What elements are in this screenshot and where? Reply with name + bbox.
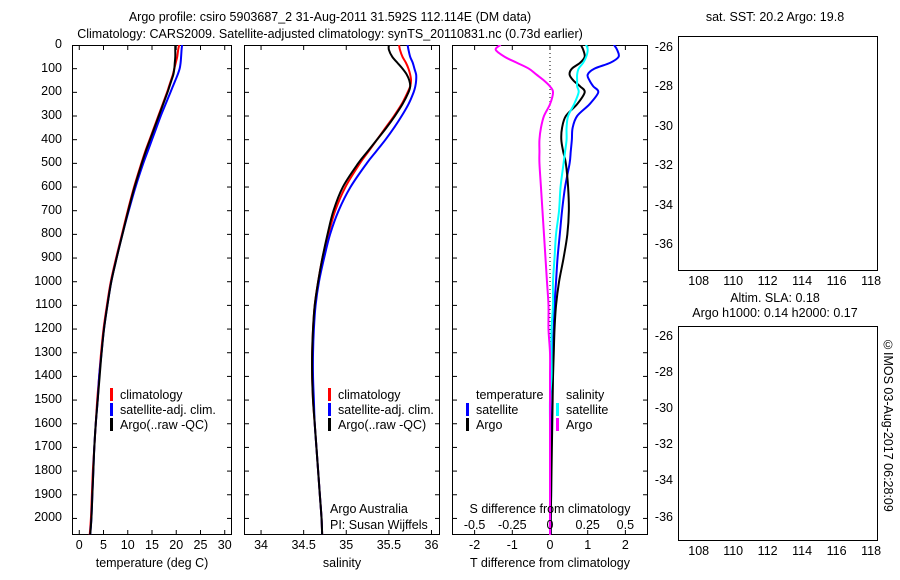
temperature-axis-ticks: 051015202530: [72, 538, 232, 554]
legend-label: Argo(..raw -QC): [120, 418, 208, 432]
map-lon-tick-label: 114: [792, 544, 812, 558]
sla-map-title-line1: Altim. SLA: 0.18: [660, 291, 890, 305]
legend-swatch-icon: [110, 388, 113, 401]
sst-map-lat-labels: -26-28-30-32-34-36: [650, 36, 675, 271]
t-difference-axis-ticks: -2-1012: [452, 538, 648, 554]
figure-title-line1: Argo profile: csiro 5903687_2 31-Aug-201…: [0, 10, 660, 24]
legend-item: Argo(..raw -QC): [328, 418, 434, 433]
s-difference-axis-label: S difference from climatology: [452, 502, 648, 516]
map-lat-tick-label: -28: [655, 365, 673, 379]
depth-tick-label: 1000: [34, 274, 62, 288]
legend-column: temperaturesatelliteArgo: [466, 388, 556, 433]
temperature-tick-label: 10: [121, 538, 135, 552]
depth-tick-label: 1600: [34, 416, 62, 430]
map-lat-tick-label: -26: [655, 40, 673, 54]
map-lon-tick-label: 116: [827, 544, 847, 558]
temperature-tick-label: 30: [218, 538, 232, 552]
legend-label: satellite-adj. clim.: [120, 403, 216, 417]
map-lon-tick-label: 118: [861, 274, 881, 288]
salinity-axis-ticks: 3434.53535.536: [244, 538, 440, 554]
panel-difference: [452, 45, 648, 535]
salinity-profile-plot: [244, 45, 440, 535]
legend-label: climatology: [338, 388, 401, 402]
depth-tick-label: 400: [41, 132, 62, 146]
depth-tick-label: 1100: [35, 297, 62, 311]
legend-column-title: salinity: [566, 388, 646, 403]
legend-swatch-icon: [328, 403, 331, 416]
difference-profile-plot: [452, 45, 648, 535]
s-diff-tick-label: -0.25: [498, 518, 527, 532]
depth-tick-label: 900: [41, 250, 62, 264]
temperature-tick-label: 20: [169, 538, 183, 552]
temperature-axis-label: temperature (deg C): [52, 556, 252, 570]
map-lat-tick-label: -30: [655, 119, 673, 133]
temperature-profile-plot: [72, 45, 232, 535]
depth-tick-label: 1800: [34, 463, 62, 477]
depth-tick-label: 200: [41, 84, 62, 98]
salinity-tick-label: 34.5: [291, 538, 315, 552]
legend-swatch-icon: [556, 403, 559, 416]
legend-item: satellite-adj. clim.: [328, 403, 434, 418]
legend-label: Argo(..raw -QC): [338, 418, 426, 432]
depth-tick-label: 1300: [34, 345, 62, 359]
map-lat-tick-label: -34: [655, 473, 673, 487]
depth-tick-label: 1400: [34, 368, 62, 382]
salinity-legend: climatologysatellite-adj. clim.Argo(..ra…: [328, 388, 434, 433]
map-lon-tick-label: 114: [792, 274, 812, 288]
legend-swatch-icon: [556, 418, 559, 431]
map-sst[interactable]: [678, 36, 878, 271]
depth-tick-label: 500: [41, 155, 62, 169]
s-difference-axis-ticks: -0.5-0.2500.250.5: [452, 518, 648, 534]
legend-column-title: temperature: [476, 388, 556, 403]
salinity-tick-label: 36: [425, 538, 439, 552]
sla-map-canvas[interactable]: [678, 326, 878, 541]
legend-item: Argo(..raw -QC): [110, 418, 216, 433]
legend-item: Argo: [466, 418, 556, 433]
t-diff-tick-label: 0: [547, 538, 554, 552]
temperature-tick-label: 5: [100, 538, 107, 552]
s-diff-tick-label: 0.5: [617, 518, 634, 532]
legend-item: satellite-adj. clim.: [110, 403, 216, 418]
map-lon-tick-label: 110: [723, 544, 743, 558]
salinity-tick-label: 35.5: [377, 538, 401, 552]
sla-map-lat-labels: -26-28-30-32-34-36: [650, 326, 675, 541]
legend-label: climatology: [120, 388, 183, 402]
temperature-legend: climatologysatellite-adj. clim.Argo(..ra…: [110, 388, 216, 433]
map-lat-tick-label: -26: [655, 329, 673, 343]
temperature-tick-label: 25: [194, 538, 208, 552]
t-diff-tick-label: 2: [622, 538, 629, 552]
t-diff-tick-label: 1: [584, 538, 591, 552]
difference-legend: temperaturesatelliteArgosalinitysatellit…: [466, 388, 646, 433]
depth-tick-label: 1700: [34, 439, 62, 453]
sst-map-lon-labels: 108110112114116118: [678, 274, 878, 290]
legend-label: Argo: [566, 418, 592, 432]
map-lat-tick-label: -32: [655, 437, 673, 451]
map-lon-tick-label: 118: [861, 544, 881, 558]
depth-tick-label: 300: [41, 108, 62, 122]
legend-label: satellite: [476, 403, 518, 417]
depth-tick-label: 700: [41, 203, 62, 217]
panel-salinity: [244, 45, 440, 535]
legend-item: satellite: [466, 403, 556, 418]
temperature-tick-label: 0: [76, 538, 83, 552]
legend-item: Argo: [556, 418, 646, 433]
sst-map-canvas[interactable]: [678, 36, 878, 271]
legend-label: satellite: [566, 403, 608, 417]
depth-tick-label: 2000: [34, 510, 62, 524]
legend-swatch-icon: [466, 403, 469, 416]
map-lon-tick-label: 116: [827, 274, 847, 288]
map-lon-tick-label: 110: [723, 274, 743, 288]
salinity-axis-label: salinity: [272, 556, 412, 570]
legend-item: climatology: [328, 388, 434, 403]
depth-tick-label: 1500: [34, 392, 62, 406]
depth-tick-label: 800: [41, 226, 62, 240]
sst-map-title: sat. SST: 20.2 Argo: 19.8: [660, 10, 890, 24]
figure-root: Argo profile: csiro 5903687_2 31-Aug-201…: [0, 0, 900, 580]
s-diff-tick-label: 0: [547, 518, 554, 532]
legend-swatch-icon: [110, 418, 113, 431]
legend-item: climatology: [110, 388, 216, 403]
temperature-tick-label: 15: [145, 538, 159, 552]
panel-temperature: [72, 45, 232, 535]
legend-column: salinitysatelliteArgo: [556, 388, 646, 433]
legend-swatch-icon: [110, 403, 113, 416]
depth-axis-labels-left: 0100200300400500600700800900100011001200…: [0, 45, 68, 535]
sla-map-lon-labels: 108110112114116118: [678, 544, 878, 560]
depth-tick-label: 1200: [34, 321, 62, 335]
salinity-tick-label: 34: [254, 538, 268, 552]
s-diff-tick-label: -0.5: [464, 518, 486, 532]
salinity-note-2: PI: Susan Wijffels: [330, 518, 428, 532]
map-sla[interactable]: [678, 326, 878, 541]
legend-label: satellite-adj. clim.: [338, 403, 434, 417]
map-lat-tick-label: -36: [655, 237, 673, 251]
t-difference-axis-label: T difference from climatology: [452, 556, 648, 570]
imos-credit: ©IMOS 03-Aug-2017 06:28:09: [881, 338, 895, 512]
map-lat-tick-label: -34: [655, 198, 673, 212]
depth-tick-label: 1900: [34, 487, 62, 501]
depth-tick-label: 600: [41, 179, 62, 193]
map-lat-tick-label: -28: [655, 79, 673, 93]
t-diff-tick-label: -2: [469, 538, 480, 552]
legend-swatch-icon: [328, 388, 331, 401]
sla-map-title-line2: Argo h1000: 0.14 h2000: 0.17: [655, 306, 895, 320]
t-diff-tick-label: -1: [507, 538, 518, 552]
map-lat-tick-label: -36: [655, 510, 673, 524]
map-lon-tick-label: 108: [688, 274, 709, 288]
map-lon-tick-label: 108: [688, 544, 709, 558]
legend-label: Argo: [476, 418, 502, 432]
map-lon-tick-label: 112: [758, 274, 778, 288]
map-lat-tick-label: -32: [655, 158, 673, 172]
salinity-note-1: Argo Australia: [330, 502, 408, 516]
salinity-tick-label: 35: [339, 538, 353, 552]
figure-title-line2: Climatology: CARS2009. Satellite-adjuste…: [0, 27, 660, 41]
legend-swatch-icon: [328, 418, 331, 431]
legend-swatch-icon: [466, 418, 469, 431]
map-lat-tick-label: -30: [655, 401, 673, 415]
depth-tick-label: 100: [41, 61, 62, 75]
depth-tick-label: 0: [55, 37, 62, 51]
legend-item: satellite: [556, 403, 646, 418]
map-lon-tick-label: 112: [758, 544, 778, 558]
s-diff-tick-label: 0.25: [576, 518, 600, 532]
